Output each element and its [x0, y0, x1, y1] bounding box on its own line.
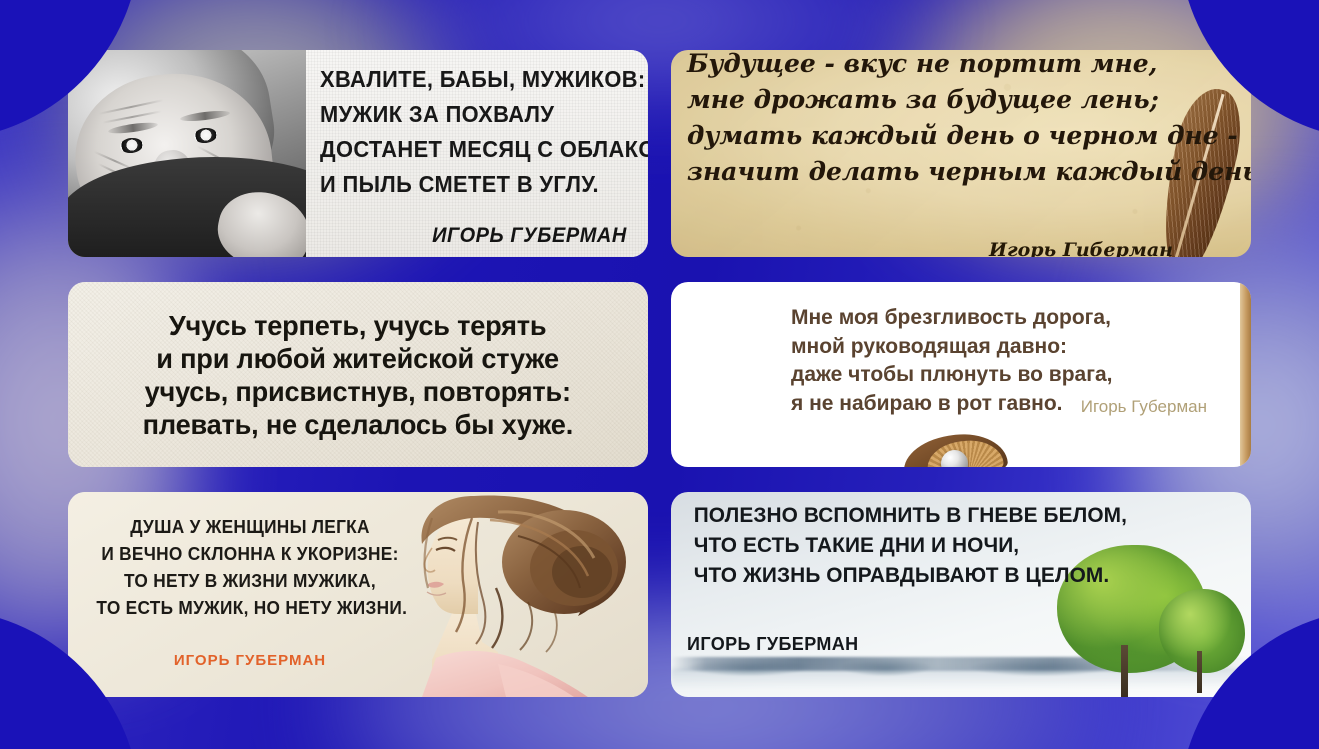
- tree-trunk: [1197, 651, 1202, 693]
- quote-card-white-squeamishness[interactable]: Мне моя брезгливость дорога, мной руково…: [671, 282, 1251, 467]
- quote-line: мной руководящая давно:: [791, 333, 1211, 362]
- quote-card-woman-soul[interactable]: ДУША У ЖЕНЩИНЫ ЛЕГКА И ВЕЧНО СКЛОННА К У…: [68, 492, 648, 697]
- quote-line: МУЖИК ЗА ПОХВАЛУ: [320, 97, 612, 132]
- poster-canvas: ХВАЛИТЕ, БАБЫ, МУЖИКОВ: МУЖИК ЗА ПОХВАЛУ…: [0, 0, 1319, 749]
- tree-small-icon: [1159, 589, 1245, 673]
- quote-card-beige-patience[interactable]: Учусь терпеть, учусь терять и при любой …: [68, 282, 648, 467]
- watercolor-woman-profile: [378, 492, 648, 697]
- guberman-portrait-photo: [68, 50, 306, 257]
- quote-line: И ВЕЧНО СКЛОННА К УКОРИЗНЕ:: [96, 541, 403, 568]
- quote-line: ДУША У ЖЕНЩИНЫ ЛЕГКА: [96, 514, 403, 541]
- quote-line: и при любой житейской стуже: [157, 342, 560, 375]
- quote-author: ИГОРЬ ГУБЕРМАН: [687, 634, 859, 655]
- quote-line: И ПЫЛЬ СМЕТЕТ В УГЛУ.: [320, 167, 612, 202]
- quote-line: Учусь терпеть, учусь терять: [169, 309, 547, 342]
- quote-text-block: Учусь терпеть, учусь терять и при любой …: [68, 282, 648, 467]
- quote-line: ТО ЕСТЬ МУЖИК, НО НЕТУ ЖИЗНИ.: [96, 595, 403, 622]
- tree-trunk: [1121, 645, 1128, 697]
- quote-author: ИГОРЬ ГУБЕРМАН: [120, 652, 380, 669]
- quote-line: ЧТО ЖИЗНЬ ОПРАВДЫВАЮТ В ЦЕЛОМ.: [694, 560, 1127, 590]
- quote-line: ПОЛЕЗНО ВСПОМНИТЬ В ГНЕВЕ БЕЛОМ,: [694, 500, 1127, 530]
- quote-line: думать каждый день о черном дне -: [687, 118, 1235, 154]
- quote-author: Игорь Гиберман: [989, 239, 1173, 257]
- quote-author: ИГОРЬ ГУБЕРМАН: [432, 224, 627, 248]
- card-right-edge-stripe: [1240, 282, 1251, 467]
- quote-line: мне дрожать за будущее лень;: [687, 82, 1235, 118]
- quote-line: значит делать черным каждый день.: [687, 154, 1235, 190]
- quote-line: ЧТО ЕСТЬ ТАКИЕ ДНИ И НОЧИ,: [694, 530, 1127, 560]
- quote-author: Игорь Губерман: [1081, 397, 1207, 417]
- woman-illustration-svg: [378, 492, 648, 697]
- quote-line: даже чтобы плюнуть во врага,: [791, 361, 1211, 390]
- quote-card-landscape-anger[interactable]: ПОЛЕЗНО ВСПОМНИТЬ В ГНЕВЕ БЕЛОМ, ЧТО ЕСТ…: [671, 492, 1251, 697]
- quote-card-grid: ХВАЛИТЕ, БАБЫ, МУЖИКОВ: МУЖИК ЗА ПОХВАЛУ…: [68, 50, 1251, 695]
- quote-card-portrait-praise[interactable]: ХВАЛИТЕ, БАБЫ, МУЖИКОВ: МУЖИК ЗА ПОХВАЛУ…: [68, 50, 648, 257]
- quote-line: плевать, не сделалось бы хуже.: [143, 408, 573, 441]
- tree-crown: [1159, 589, 1245, 673]
- quote-text-block: ПОЛЕЗНО ВСПОМНИТЬ В ГНЕВЕ БЕЛОМ, ЧТО ЕСТ…: [687, 500, 1134, 590]
- quote-line: ХВАЛИТЕ, БАБЫ, МУЖИКОВ:: [320, 62, 612, 97]
- quote-text-block: ХВАЛИТЕ, БАБЫ, МУЖИКОВ: МУЖИК ЗА ПОХВАЛУ…: [320, 62, 634, 251]
- quote-line: учусь, присвистнув, повторять:: [145, 375, 571, 408]
- quote-text-block: ДУША У ЖЕНЩИНЫ ЛЕГКА И ВЕЧНО СКЛОННА К У…: [90, 514, 410, 622]
- quote-line: Будущее - вкус не портит мне,: [687, 50, 1235, 82]
- pearl-in-oyster-shell-icon: [903, 431, 1007, 467]
- quote-line: ТО НЕТУ В ЖИЗНИ МУЖИКА,: [96, 568, 403, 595]
- quote-text-block: Будущее - вкус не портит мне, мне дрожат…: [687, 50, 1235, 190]
- quote-line: ДОСТАНЕТ МЕСЯЦ С ОБЛАКОВ: [320, 132, 612, 167]
- quote-card-parchment-future[interactable]: Будущее - вкус не портит мне, мне дрожат…: [671, 50, 1251, 257]
- quote-line: Мне моя брезгливость дорога,: [791, 304, 1211, 333]
